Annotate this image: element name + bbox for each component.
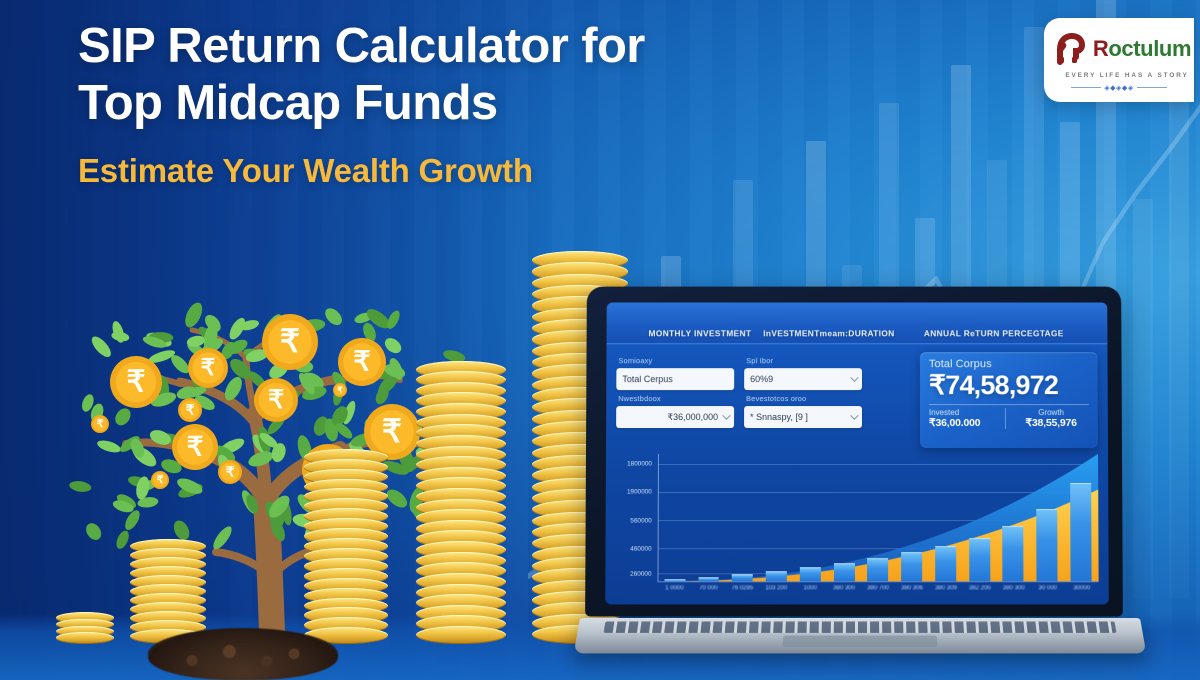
logo-tagline: EVERY LIFE HAS A STORY (1065, 72, 1188, 79)
rate-select-value: 60%9 (750, 374, 773, 384)
chart-x-tick: 103 200 (765, 585, 787, 591)
logo-divider: ◈◆◈◆◈ (1071, 84, 1166, 92)
chart-bar (766, 571, 787, 581)
keyboard[interactable] (604, 621, 1117, 632)
chart-x-tick: 30000 (1073, 585, 1090, 591)
svg-text:₹: ₹ (337, 386, 342, 395)
chart-y-tick: 560000 (630, 517, 651, 524)
logo-divider-left (1071, 87, 1101, 88)
coin-stack (416, 350, 506, 644)
svg-text:₹: ₹ (280, 323, 300, 359)
growth-value: ₹38,55,976 (1013, 417, 1089, 429)
chart-x-tick: 1 0000 (665, 585, 683, 591)
chart-bar (800, 567, 821, 581)
invested-amount-select-value: ₹36,000,000 (667, 412, 718, 423)
chart-bar (1036, 509, 1057, 581)
logo-divider-dots: ◈◆◈◆◈ (1104, 84, 1133, 92)
logo-wordmark: Roctulum (1093, 36, 1191, 62)
chart-y-tick: 260000 (630, 571, 651, 578)
svg-text:₹: ₹ (126, 365, 145, 398)
growth-label: Growth (1013, 408, 1088, 417)
invested-cell: Invested ₹36,00.000 (929, 408, 1004, 429)
rupee-coin-icon: ₹ (262, 314, 318, 370)
coin-stack (56, 605, 114, 644)
brand-logo[interactable]: Roctulum EVERY LIFE HAS A STORY ◈◆◈◆◈ (1044, 18, 1194, 102)
logo-brand-rest: octulum (1108, 36, 1191, 61)
chevron-down-icon (722, 411, 730, 419)
chart-x-tick: 382 200 (969, 585, 991, 591)
headline-block: SIP Return Calculator for Top Midcap Fun… (78, 18, 798, 190)
corpus-breakdown: Invested ₹36,00.000 Growth ₹38,55,976 (929, 404, 1089, 429)
rupee-coin-icon: ₹ (188, 348, 228, 388)
chart-x-tick: 1000 (803, 585, 816, 591)
chart-y-tick: 460000 (630, 545, 651, 552)
app-header: MONTHLY INVESTMENT InVESTMENTmeam:DURATI… (607, 302, 1108, 344)
rupee-coin-icon: ₹ (254, 378, 298, 422)
svg-text:₹: ₹ (353, 346, 371, 377)
chart-x-tick: 76 0285 (731, 585, 753, 591)
chart-y-tick: 1800000 (627, 461, 652, 468)
invested-value: ₹36,00.000 (929, 417, 1004, 429)
banner-canvas: SIP Return Calculator for Top Midcap Fun… (0, 0, 1200, 680)
svg-text:₹: ₹ (268, 386, 284, 414)
headline-line-2: Top Midcap Funds (78, 76, 498, 130)
column-header-annual-return-percentage: ANNUAL ReTURN PERCEGTAGE (924, 328, 1064, 338)
field-label-1: Spl Ibor (746, 356, 862, 365)
chart-y-tick: 1900000 (627, 489, 652, 496)
total-corpus-card: Total Corpus ₹74,58,972 Invested ₹36,00.… (920, 352, 1098, 448)
field-label-0: Somioaxy (618, 356, 734, 365)
svg-text:₹: ₹ (201, 354, 216, 380)
chart-y-axis: 18000001900000560000460000260000 (613, 454, 656, 582)
laptop-base (574, 618, 1147, 653)
rate-select[interactable]: 60%9 (744, 368, 862, 390)
laptop-screen: MONTHLY INVESTMENT InVESTMENTmeam:DURATI… (605, 302, 1109, 604)
trackpad[interactable] (783, 636, 938, 648)
chart-x-tick: 380 300 (1003, 585, 1025, 591)
app-body: Somioaxy Total Cerpus Nwestbdoox ₹36,000… (605, 344, 1109, 604)
chart-bar (664, 579, 685, 581)
chart-bar (698, 578, 719, 582)
chart-plot-area (657, 454, 1098, 582)
headline-line-1: SIP Return Calculator for (78, 19, 645, 73)
chart-x-tick: 70 000 (699, 585, 717, 591)
chevron-down-icon (850, 373, 858, 381)
growth-chart: 18000001900000560000460000260000 1 00007… (613, 454, 1100, 600)
elephant-icon (1051, 29, 1091, 69)
logo-brand-initial: R (1093, 36, 1109, 61)
coin-stack (304, 439, 388, 644)
frequency-select[interactable]: * Snnaspy, [9 ] (744, 406, 862, 428)
chart-bar (969, 538, 990, 581)
rupee-coin-icon: ₹ (110, 356, 162, 408)
field-label-2: Nwestbdoox (618, 394, 734, 403)
chart-x-axis: 1 000070 00076 0285103 2001000380 300380… (657, 582, 1098, 600)
chart-bar (901, 553, 922, 582)
growth-cell: Growth ₹38,55,976 (1004, 408, 1089, 429)
chart-bar (732, 574, 753, 581)
form-column-middle: Spl Ibor 60%9 Bevestotcos oroo * Snnaspy… (744, 352, 862, 448)
invested-amount-select[interactable]: ₹36,000,000 (616, 406, 734, 428)
chart-x-tick: 380 306 (901, 585, 923, 591)
total-corpus-input[interactable]: Total Cerpus (616, 368, 734, 390)
rupee-coin-icon: ₹ (178, 398, 202, 422)
total-corpus-amount: ₹74,58,972 (929, 371, 1089, 399)
total-corpus-label: Total Corpus (929, 358, 1089, 370)
chart-bar (1070, 483, 1091, 581)
column-header-investment-duration: InVESTMENTmeam:DURATION (763, 328, 894, 338)
laptop-lid: MONTHLY INVESTMENT InVESTMENTmeam:DURATI… (585, 287, 1123, 617)
column-header-monthly-investment: MONTHLY INVESTMENT (648, 328, 751, 338)
frequency-select-value: * Snnaspy, [9 ] (750, 412, 808, 422)
chart-x-tick: 380 700 (867, 585, 889, 591)
chevron-down-icon (850, 411, 858, 419)
total-corpus-input-value: Total Cerpus (622, 374, 672, 384)
coin-stacks (52, 424, 612, 644)
chart-bar (1003, 526, 1024, 581)
subheadline: Estimate Your Wealth Growth (78, 152, 798, 190)
laptop-mockup: MONTHLY INVESTMENT InVESTMENTmeam:DURATI… (580, 286, 1140, 680)
chart-x-tick: 30 000 (1039, 585, 1057, 591)
soil-mound (148, 628, 338, 680)
chart-bar (834, 563, 855, 581)
logo-divider-right (1137, 87, 1167, 88)
invested-label: Invested (929, 408, 1004, 417)
coin-stack (130, 530, 206, 644)
field-label-3: Bevestotcos oroo (746, 394, 862, 403)
sip-calculator-app: MONTHLY INVESTMENT InVESTMENTmeam:DURATI… (605, 302, 1109, 604)
chart-bar (935, 546, 956, 581)
page-title: SIP Return Calculator for Top Midcap Fun… (78, 18, 798, 132)
chart-x-tick: 380 300 (833, 585, 855, 591)
logo-lockup: Roctulum (1051, 29, 1191, 69)
rupee-coin-icon: ₹ (333, 383, 347, 397)
chart-bar (867, 558, 888, 581)
form-column-left: Somioaxy Total Cerpus Nwestbdoox ₹36,000… (616, 352, 734, 448)
svg-text:₹: ₹ (186, 402, 195, 417)
chart-x-tick: 380 309 (935, 585, 957, 591)
rupee-coin-icon: ₹ (338, 338, 386, 386)
